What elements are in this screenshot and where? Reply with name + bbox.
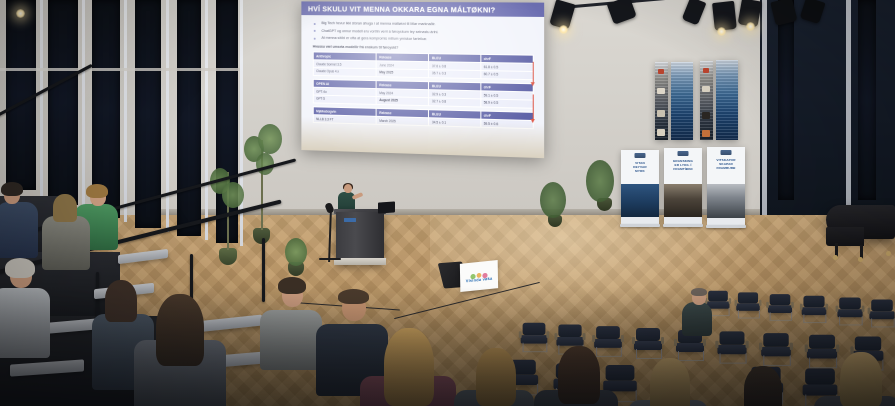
banner-logo — [635, 153, 646, 158]
banner-base — [663, 224, 703, 227]
art-accent-orange — [702, 130, 710, 137]
chair — [594, 326, 622, 356]
podium-base — [334, 258, 386, 265]
banner-image — [664, 184, 702, 217]
window-edge-glow — [205, 0, 208, 240]
speaker-head — [344, 184, 352, 193]
results-table-anthropic: Anthropic Release BLEU chrF Claude Sonne… — [313, 52, 534, 80]
banner-center: GRANSKINGER LYKIL ÍFRAMTÍÐINI — [664, 148, 702, 224]
art-accent-light — [702, 86, 710, 92]
art-accent-red — [658, 69, 664, 74]
banner-left: VITANDEYVARMYRK — [621, 150, 659, 224]
banner-logo — [721, 150, 732, 155]
plant-foliage — [540, 182, 566, 218]
banner-text: VITANDEYVARMYRK — [621, 161, 659, 174]
chair — [807, 335, 837, 367]
slide-body: Big Tech hevur ikki stóran áhuga í at me… — [301, 15, 544, 129]
art-panel-ocean-2 — [716, 60, 738, 140]
banner-text: GRANSKINGER LYKIL ÍFRAMTÍÐINI — [664, 159, 702, 172]
plant-foliage — [285, 238, 307, 266]
cell-model: Claude Opus 4.x — [313, 68, 376, 77]
table-intro-text: Hvussu væl umseta modellir frá enskum ti… — [313, 45, 534, 52]
window-pane — [48, 0, 78, 205]
projection-screen: HVÍ SKULU VIT MENNA OKKARA EGNA MÁLTØKNI… — [301, 1, 544, 158]
art-panel-ocean-1 — [671, 62, 693, 140]
banner-base — [706, 225, 746, 228]
chair — [717, 331, 746, 362]
confidence-monitor — [378, 201, 395, 213]
slide-bullet-list: Big Tech hevur ikki stóran áhuga í at me… — [313, 21, 534, 44]
presentation-scene-photo: HVÍ SKULU VIT MENNA OKKARA EGNA MÁLTØKNI… — [0, 0, 895, 406]
wall-light-strip-1 — [762, 0, 767, 215]
art-accent-dark — [702, 112, 710, 119]
cell-chrf: 60.7 ± 0.5 — [481, 70, 534, 79]
chair — [521, 323, 548, 352]
window-pane — [858, 0, 876, 200]
window-pane — [135, 0, 161, 228]
window-edge-glow — [82, 0, 85, 210]
chair — [802, 296, 827, 322]
art-accent-light — [657, 110, 665, 117]
microphone-tripod — [319, 258, 341, 260]
podium-logo-badge — [344, 218, 356, 222]
window-pane — [177, 0, 201, 236]
floor-sign: Vísinda vøka — [460, 260, 498, 292]
chair — [761, 333, 791, 365]
window-pane — [778, 0, 794, 200]
plant-foliage — [222, 182, 244, 208]
slide-bullet: ChatGPT og onnur modell eru vorðin verri… — [313, 28, 534, 35]
slide-bullet: At menna sítíbi er ofta at gera kompromi… — [313, 36, 534, 44]
banner-base — [620, 224, 660, 227]
chair — [736, 292, 760, 317]
banner-text: VITSKAPURSKAPARFRAMBURÐ — [707, 158, 745, 171]
cell-bleu: 35.7 ± 0.3 — [429, 70, 481, 79]
piano-caster — [886, 251, 891, 256]
window-edge-glow — [166, 0, 169, 232]
piano-caster — [858, 257, 863, 262]
cell-bleu: 32.7 ± 0.8 — [429, 98, 481, 107]
cell-chrf: 58.9 ± 0.5 — [481, 99, 534, 108]
cell-model: GPT-5 — [313, 95, 376, 104]
art-accent-red — [703, 68, 709, 73]
banner-logo — [678, 151, 689, 156]
slide-surface: HVÍ SKULU VIT MENNA OKKARA EGNA MÁLTØKNI… — [301, 1, 544, 158]
cell-release: May 2025 — [376, 69, 429, 78]
results-table-openai: OPEN AI Release BLEU chrF GPT-4o May 202… — [313, 79, 534, 108]
downward-arrow-icon — [533, 62, 534, 82]
chair — [869, 300, 894, 327]
slide-bullet: Big Tech hevur ikki stóran áhuga í at me… — [313, 21, 534, 28]
plant-foliage — [258, 124, 282, 154]
wall-light-strip-2 — [846, 0, 851, 215]
window-edge-glow — [124, 0, 127, 222]
chair — [768, 294, 792, 320]
banner-footer — [664, 217, 702, 224]
railing-post — [262, 238, 265, 302]
cell-release: August 2025 — [376, 96, 429, 105]
banner-footer — [707, 218, 745, 225]
piano-body-side — [826, 227, 864, 246]
slide-title: HVÍ SKULU VIT MENNA OKKARA EGNA MÁLTØKNI… — [308, 4, 495, 14]
banner-image — [621, 184, 659, 217]
plant-foliage — [586, 160, 614, 202]
grand-piano — [826, 205, 895, 257]
floor-sign-text: Vísinda vøka — [460, 275, 498, 284]
art-accent-light — [657, 88, 665, 94]
floor-sign-logo — [468, 266, 490, 276]
downward-arrow-icon — [533, 94, 534, 119]
art-accent-light — [657, 129, 665, 136]
piano-caster — [833, 255, 838, 260]
chair — [837, 298, 862, 325]
banner-footer — [621, 217, 659, 224]
window-edge-glow — [40, 0, 43, 196]
banner-image — [707, 184, 745, 218]
window-mullion — [0, 68, 240, 71]
chair — [634, 328, 662, 358]
banner-right: VITSKAPURSKAPARFRAMBURÐ — [707, 147, 745, 225]
